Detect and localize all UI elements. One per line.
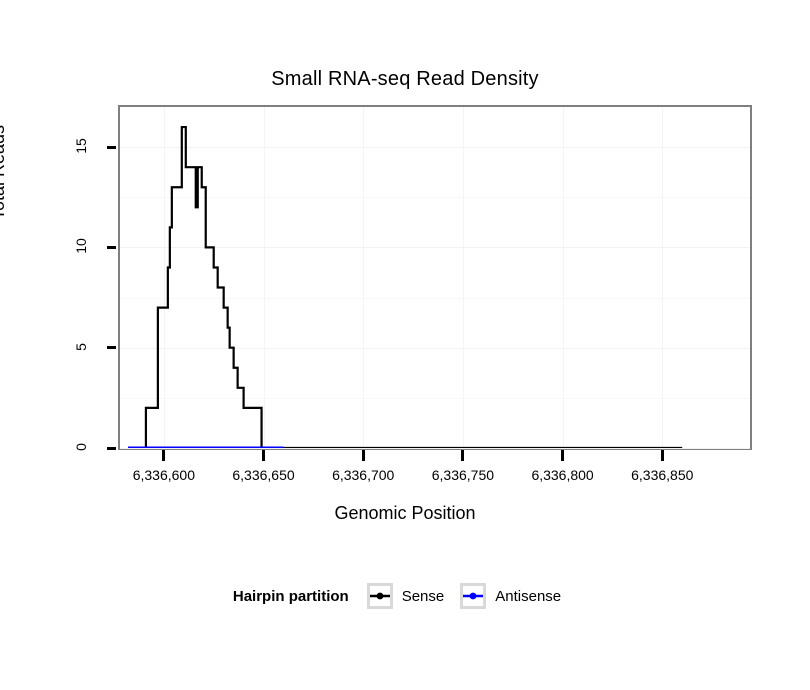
legend-entry-sense[interactable]: Sense (367, 583, 445, 609)
y-tick-mark (107, 146, 116, 149)
gridline-horizontal (120, 448, 750, 449)
x-tick-mark (362, 450, 365, 461)
legend-label: Sense (402, 588, 445, 605)
x-tick-mark (461, 450, 464, 461)
legend-key-swatch (460, 583, 486, 609)
x-tick-label: 6,336,850 (602, 467, 722, 483)
legend-point-icon (463, 586, 483, 606)
y-tick-mark (107, 447, 116, 450)
y-tick-mark (107, 246, 116, 249)
y-tick-label: 10 (73, 231, 89, 261)
y-axis-title: Total Reads (0, 125, 9, 220)
y-tick-label: 5 (73, 332, 89, 362)
plot-panel (118, 105, 752, 450)
y-tick-mark (107, 346, 116, 349)
legend-point-icon (370, 586, 390, 606)
legend-label: Antisense (495, 588, 561, 605)
data-series-svg (120, 107, 750, 448)
page-title: Small RNA-seq Read Density (0, 68, 810, 91)
plot-area (120, 107, 750, 448)
legend-entry-antisense[interactable]: Antisense (460, 583, 561, 609)
series-line-sense (144, 127, 682, 448)
x-axis-title: Genomic Position (0, 503, 810, 524)
x-tick-mark (162, 450, 165, 461)
legend-title: Hairpin partition (233, 588, 349, 605)
legend: Hairpin partition SenseAntisense (0, 583, 810, 609)
x-tick-mark (561, 450, 564, 461)
x-tick-mark (661, 450, 664, 461)
legend-entries: SenseAntisense (367, 583, 577, 609)
x-tick-mark (262, 450, 265, 461)
y-tick-label: 15 (73, 131, 89, 161)
y-tick-label: 0 (73, 432, 89, 462)
chart-page: Small RNA-seq Read Density Total Reads G… (0, 0, 810, 690)
legend-key-swatch (367, 583, 393, 609)
